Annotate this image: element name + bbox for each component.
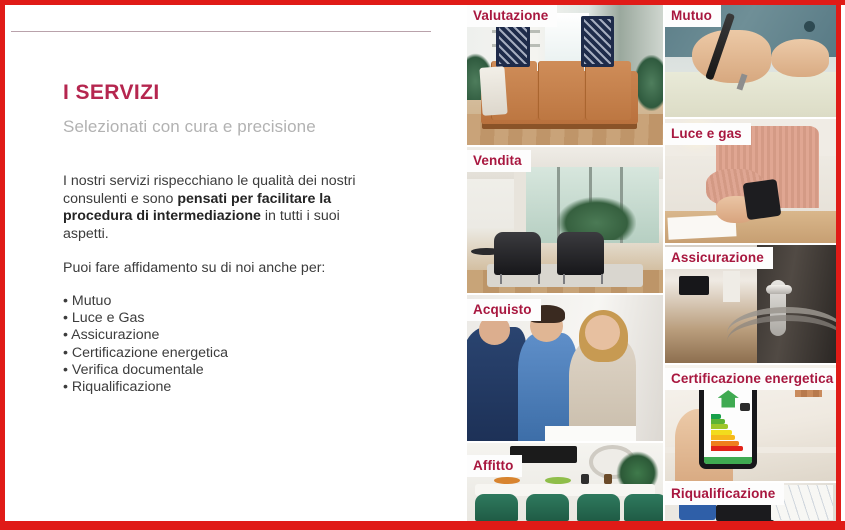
tile-label-riqualificazione: Riqualificazione bbox=[665, 483, 784, 505]
list-item: • Mutuo bbox=[63, 293, 363, 310]
tile-label-valutazione: Valutazione bbox=[467, 5, 557, 27]
photo-tile-riqualificazione: Riqualificazione bbox=[665, 483, 836, 521]
energy-bar-A bbox=[711, 414, 721, 419]
tile-label-certificazione-energetica: Certificazione energetica bbox=[665, 368, 836, 390]
energy-bar-F bbox=[711, 441, 739, 446]
tile-label-vendita: Vendita bbox=[467, 150, 531, 172]
photo-mosaic: Valutazione Vendita bbox=[467, 5, 836, 521]
page-subtitle: Selezionati con cura e precisione bbox=[63, 117, 316, 137]
energy-bar-D bbox=[711, 430, 732, 435]
photo-tile-acquisto: Acquisto bbox=[467, 295, 663, 441]
brochure-page: I SERVIZI Selezionati con cura e precisi… bbox=[0, 0, 845, 530]
photo-tile-vendita: Vendita bbox=[467, 147, 663, 293]
energy-bar-G bbox=[711, 446, 744, 451]
list-item: • Certificazione energetica bbox=[63, 345, 363, 362]
photo-tile-mutuo: Mutuo bbox=[665, 5, 836, 117]
text-panel: I SERVIZI Selezionati con cura e precisi… bbox=[5, 5, 460, 521]
photo-tile-certificazione-energetica: Certificazione energetica bbox=[665, 365, 836, 481]
intro-paragraph: I nostri servizi rispecchiano le qualità… bbox=[63, 173, 363, 243]
energy-bar-B bbox=[711, 419, 725, 424]
energy-rating-bars bbox=[711, 414, 746, 452]
tile-label-affitto: Affitto bbox=[467, 455, 522, 477]
tile-label-luce-e-gas: Luce e gas bbox=[665, 123, 751, 145]
list-item: • Luce e Gas bbox=[63, 310, 363, 327]
list-item: • Riqualificazione bbox=[63, 379, 363, 396]
frame-border-right bbox=[836, 0, 841, 530]
tile-label-mutuo: Mutuo bbox=[665, 5, 721, 27]
tile-label-assicurazione: Assicurazione bbox=[665, 247, 773, 269]
page-title: I SERVIZI bbox=[63, 81, 160, 105]
house-icon bbox=[718, 390, 739, 407]
photo-tile-affitto: Affitto bbox=[467, 443, 663, 521]
energy-bar-C bbox=[711, 424, 728, 429]
horizontal-rule bbox=[11, 31, 431, 32]
services-list: • Mutuo • Luce e Gas • Assicurazione • C… bbox=[63, 293, 363, 396]
photo-tile-valutazione: Valutazione bbox=[467, 5, 663, 145]
list-item: • Verifica documentale bbox=[63, 362, 363, 379]
photo-tile-assicurazione: Assicurazione bbox=[665, 245, 836, 363]
energy-bar-E bbox=[711, 435, 735, 440]
photo-tile-luce-e-gas: Luce e gas bbox=[665, 119, 836, 243]
lead-in-paragraph: Puoi fare affidamento su di noi anche pe… bbox=[63, 260, 383, 278]
tile-label-acquisto: Acquisto bbox=[467, 299, 541, 321]
list-item: • Assicurazione bbox=[63, 327, 363, 344]
frame-border-bottom bbox=[0, 521, 845, 530]
